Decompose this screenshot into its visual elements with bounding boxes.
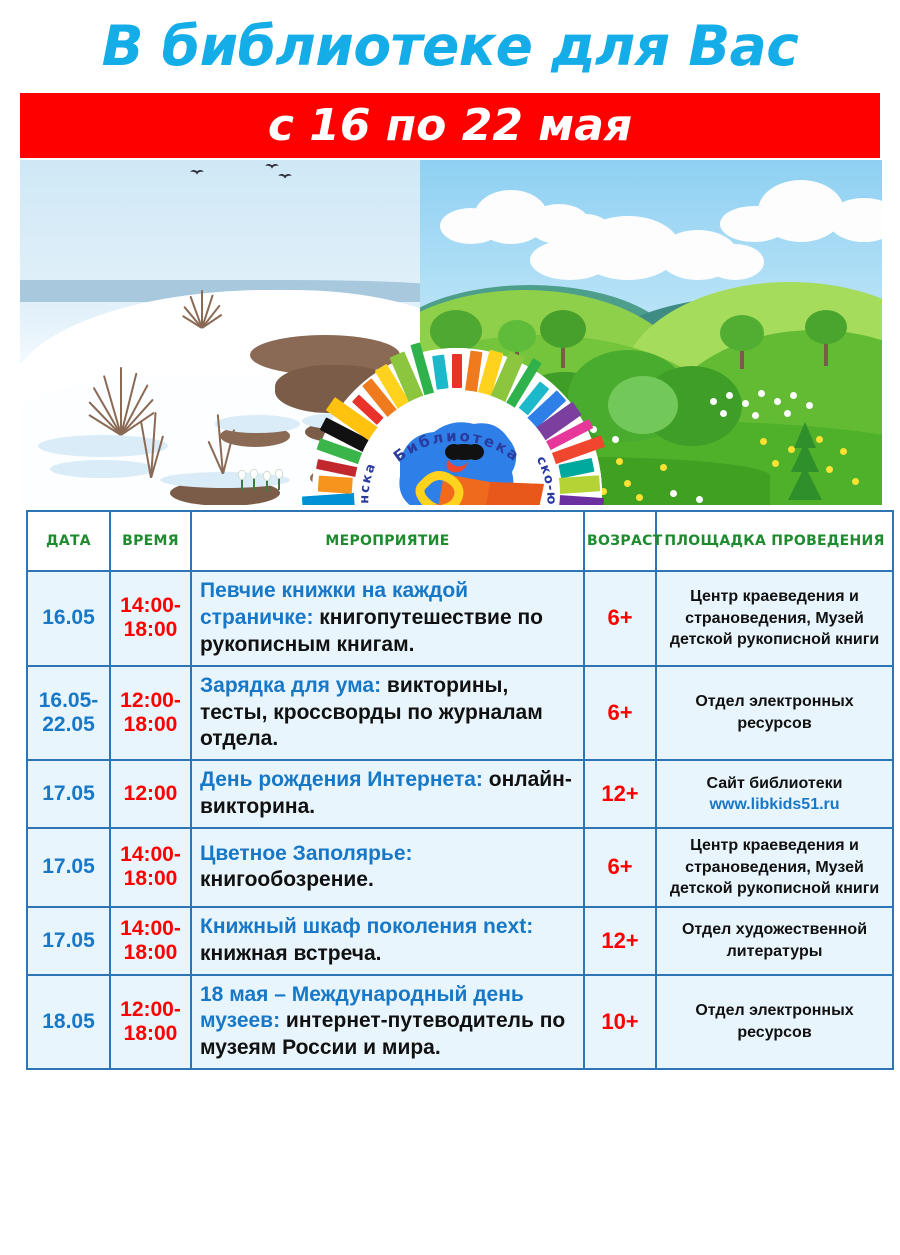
white-flower — [752, 412, 759, 419]
cell-date: 16.05-22.05 — [27, 666, 110, 761]
table-row: 18.0512:00-18:0018 мая – Международный д… — [27, 975, 893, 1070]
white-flower — [720, 410, 727, 417]
library-logo: Областная Библиотека Мурманская Детско-ю… — [312, 348, 602, 505]
venue-name: Центр краеведения и страноведения, Музей… — [670, 588, 879, 648]
bare-twig — [210, 412, 234, 474]
cell-venue: Центр краеведения и страноведения, Музей… — [656, 571, 893, 666]
cell-event: День рождения Интернета: онлайн-викторин… — [191, 760, 584, 828]
white-flower — [670, 490, 677, 497]
cell-venue: Отдел электронных ресурсов — [656, 975, 893, 1070]
column-header-age: ВОЗРАСТ — [584, 511, 656, 571]
event-title: Цветное Заполярье: — [200, 842, 413, 865]
table-row: 16.05-22.0512:00-18:00Зарядка для ума: в… — [27, 666, 893, 761]
date-range-text: с 16 по 22 мая — [268, 104, 632, 148]
cell-age: 12+ — [584, 907, 656, 975]
event-title: Зарядка для ума: — [200, 674, 381, 697]
logo-artwork: Областная Библиотека Мурманская Детско-ю… — [312, 348, 602, 505]
date-range-band: с 16 по 22 мая — [20, 93, 880, 158]
white-flower — [790, 392, 797, 399]
schedule-table: ДАТА ВРЕМЯ МЕРОПРИЯТИЕ ВОЗРАСТ ПЛОЩАДКА … — [26, 510, 894, 1070]
white-flower — [612, 436, 619, 443]
cell-time: 14:00-18:00 — [110, 828, 191, 907]
venue-name: Центр краеведения и страноведения, Музей… — [670, 837, 879, 897]
venue-url[interactable]: www.libkids51.ru — [665, 794, 884, 816]
column-header-venue: ПЛОЩАДКА ПРОВЕДЕНИЯ — [656, 511, 893, 571]
cell-date: 18.05 — [27, 975, 110, 1070]
cell-age: 6+ — [584, 571, 656, 666]
yellow-flower — [624, 480, 631, 487]
column-header-event: МЕРОПРИЯТИЕ — [191, 511, 584, 571]
cell-event: Книжный шкаф поколения next: книжная вст… — [191, 907, 584, 975]
cell-venue: Отдел художественной литературы — [656, 907, 893, 975]
tree-shape — [805, 310, 847, 366]
venue-name: Отдел электронных ресурсов — [695, 1002, 853, 1041]
white-flower — [806, 402, 813, 409]
poster-root: В библиотеке для Вас с 16 по 22 мая — [0, 0, 900, 1255]
yellow-flower — [760, 438, 767, 445]
white-flower — [710, 398, 717, 405]
cell-event: Певчие книжки на каждой страничке: книго… — [191, 571, 584, 666]
yellow-flower — [660, 464, 667, 471]
yellow-flower — [852, 478, 859, 485]
cell-time: 12:00-18:00 — [110, 975, 191, 1070]
event-description: книгообозрение. — [200, 868, 374, 891]
cell-age: 12+ — [584, 760, 656, 828]
venue-name: Сайт библиотеки — [707, 775, 843, 792]
title-band: В библиотеке для Вас — [0, 0, 900, 93]
cell-age: 10+ — [584, 975, 656, 1070]
snowdrop-flower — [263, 466, 273, 492]
bare-bush — [178, 288, 224, 328]
white-flower — [726, 392, 733, 399]
event-title: Книжный шкаф поколения next: — [200, 915, 533, 938]
bird-icon — [265, 164, 279, 171]
yellow-flower — [616, 458, 623, 465]
cell-time: 14:00-18:00 — [110, 571, 191, 666]
cell-time: 12:00 — [110, 760, 191, 828]
yellow-flower — [788, 446, 795, 453]
table-header-row: ДАТА ВРЕМЯ МЕРОПРИЯТИЕ ВОЗРАСТ ПЛОЩАДКА … — [27, 511, 893, 571]
cell-date: 17.05 — [27, 907, 110, 975]
logo-text-left: Мурманская — [312, 348, 392, 505]
cell-age: 6+ — [584, 666, 656, 761]
cell-event: Зарядка для ума: викторины, тесты, кросс… — [191, 666, 584, 761]
cloud-shape — [720, 178, 882, 242]
event-description: книжная встреча. — [200, 942, 381, 965]
snowdrop-flower — [250, 460, 260, 490]
cell-venue: Центр краеведения и страноведения, Музей… — [656, 828, 893, 907]
cell-time: 14:00-18:00 — [110, 907, 191, 975]
bare-twig — [138, 410, 162, 478]
cell-venue: Отдел электронных ресурсов — [656, 666, 893, 761]
column-header-time: ВРЕМЯ — [110, 511, 191, 571]
cell-event: 18 мая – Международный день музеев: инте… — [191, 975, 584, 1070]
venue-name: Отдел электронных ресурсов — [695, 693, 853, 732]
yellow-flower — [816, 436, 823, 443]
page-title: В библиотеке для Вас — [102, 19, 799, 74]
table-row: 17.0514:00-18:00Цветное Заполярье: книго… — [27, 828, 893, 907]
cell-age: 6+ — [584, 828, 656, 907]
conifer-tree — [790, 422, 820, 500]
table-body: 16.0514:00-18:00Певчие книжки на каждой … — [27, 571, 893, 1069]
yellow-flower — [772, 460, 779, 467]
banner-illustration: Областная Библиотека Мурманская Детско-ю… — [20, 160, 882, 505]
table-row: 16.0514:00-18:00Певчие книжки на каждой … — [27, 571, 893, 666]
bird-icon — [278, 174, 292, 181]
white-flower — [784, 410, 791, 417]
cell-event: Цветное Заполярье: книгообозрение. — [191, 828, 584, 907]
white-flower — [742, 400, 749, 407]
table-row: 17.0512:00День рождения Интернета: онлай… — [27, 760, 893, 828]
cell-date: 17.05 — [27, 760, 110, 828]
yellow-flower — [636, 494, 643, 501]
white-flower — [774, 398, 781, 405]
column-header-date: ДАТА — [27, 511, 110, 571]
venue-name: Отдел художественной литературы — [682, 921, 867, 960]
event-title: День рождения Интернета: — [200, 768, 483, 791]
cell-time: 12:00-18:00 — [110, 666, 191, 761]
snowdrop-flower — [238, 465, 248, 491]
bird-icon — [190, 170, 204, 177]
yellow-flower — [840, 448, 847, 455]
cell-date: 17.05 — [27, 828, 110, 907]
white-flower — [758, 390, 765, 397]
snowdrop-flower — [275, 462, 285, 490]
cell-date: 16.05 — [27, 571, 110, 666]
yellow-flower — [826, 466, 833, 473]
cell-venue: Сайт библиотекиwww.libkids51.ru — [656, 760, 893, 828]
table-row: 17.0514:00-18:00Книжный шкаф поколения n… — [27, 907, 893, 975]
white-flower — [696, 496, 703, 503]
